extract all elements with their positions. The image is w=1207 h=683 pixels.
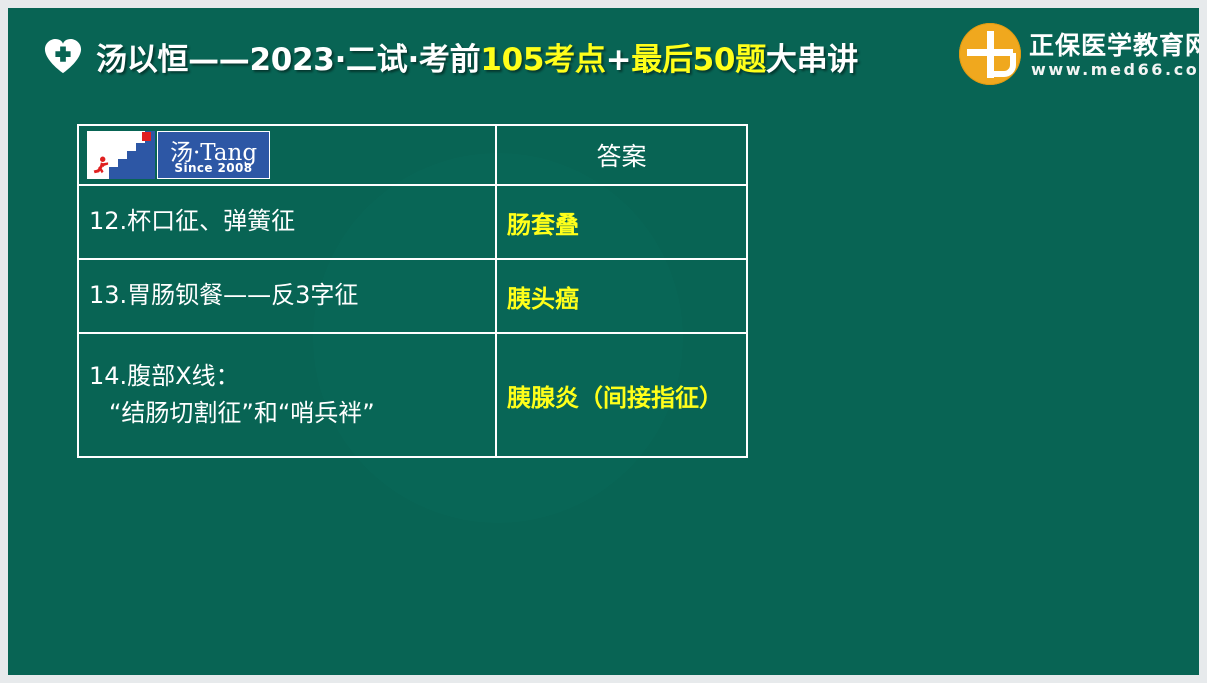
question-line: 14.腹部X线：: [89, 362, 240, 390]
tang-wordmark: 汤·Tang Since 2008: [157, 131, 270, 179]
tang-logo: 汤·Tang Since 2008: [87, 131, 270, 179]
tang-since-text: Since 2008: [158, 161, 269, 175]
stairs-runner-icon: [87, 131, 155, 179]
title-highlight-segment: 105考点: [480, 42, 605, 78]
title-segment: +: [606, 42, 632, 78]
table-row: 13.胃肠钡餐——反3字征 胰头癌: [78, 259, 747, 333]
brand-url: www.med66.com: [1031, 60, 1199, 79]
answer-cell: 胰腺炎（间接指征）: [496, 333, 747, 457]
answer-cell: 肠套叠: [496, 185, 747, 259]
question-line: 12.杯口征、弹簧征: [89, 207, 295, 235]
page-title: 汤以恒——2023·二试·考前105考点+最后50题大串讲: [96, 34, 858, 79]
question-line: 13.胃肠钡餐——反3字征: [89, 281, 358, 309]
answer-column-header: 答案: [496, 125, 747, 185]
title-highlight-segment: 最后50题: [631, 42, 766, 78]
table-row: 12.杯口征、弹簧征 肠套叠: [78, 185, 747, 259]
table-row: 14.腹部X线： “结肠切割征”和“哨兵袢” 胰腺炎（间接指征）: [78, 333, 747, 457]
slide-canvas: 汤以恒——2023·二试·考前105考点+最后50题大串讲 正保医学教育网 ww…: [8, 8, 1199, 675]
answer-cell: 胰头癌: [496, 259, 747, 333]
title-segment: 汤以恒——2023·二试·考前: [96, 42, 480, 78]
cross-in-circle-icon: [959, 23, 1021, 85]
question-line: “结肠切割征”和“哨兵袢”: [89, 395, 495, 432]
question-cell: 14.腹部X线： “结肠切割征”和“哨兵袢”: [78, 333, 496, 457]
title-segment: 大串讲: [766, 42, 858, 78]
slide-header: 汤以恒——2023·二试·考前105考点+最后50题大串讲 正保医学教育网 ww…: [8, 8, 1199, 104]
heart-cross-icon: [44, 38, 82, 76]
brand-logo: 正保医学教育网 www.med66.com: [959, 20, 1191, 90]
table-header-row: 汤·Tang Since 2008 答案: [78, 125, 747, 185]
exam-points-table: 汤·Tang Since 2008 答案 12.杯口征、弹簧征 肠套叠 13.胃…: [77, 124, 748, 458]
brand-name: 正保医学教育网: [1029, 26, 1199, 62]
question-cell: 12.杯口征、弹簧征: [78, 185, 496, 259]
table-header-logo-cell: 汤·Tang Since 2008: [78, 125, 496, 185]
question-cell: 13.胃肠钡餐——反3字征: [78, 259, 496, 333]
